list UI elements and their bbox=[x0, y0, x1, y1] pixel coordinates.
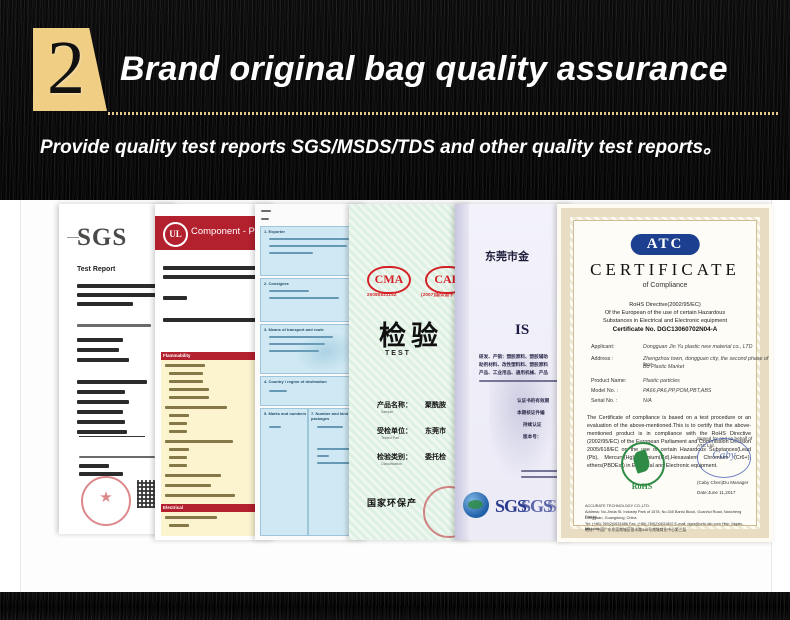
ul-row bbox=[169, 456, 187, 459]
ul-row bbox=[165, 364, 205, 367]
sgs-field-line bbox=[77, 380, 147, 384]
co-text-line bbox=[269, 390, 287, 392]
iso-left-band bbox=[455, 204, 469, 540]
co-text-line bbox=[269, 426, 281, 428]
atc-certificate-number: Certificate No. DGC13060702N04-A bbox=[557, 326, 773, 333]
ul-row bbox=[169, 388, 209, 391]
atc-field-value: Bo Plastic Market bbox=[643, 364, 684, 370]
atc-signer: (Caby Chen)Du Manager bbox=[697, 480, 748, 485]
co-box-marks bbox=[260, 408, 308, 536]
sgs-address-line bbox=[77, 284, 161, 288]
ul-row bbox=[169, 448, 189, 451]
ul-section-title-2: Electrical bbox=[163, 505, 183, 510]
atc-field-key: Product Name: bbox=[591, 378, 626, 384]
atc-directive-line: Of the European of the use of certain Ha… bbox=[557, 310, 773, 316]
atc-field-value: Plastic particles bbox=[643, 378, 680, 384]
sgs-field-line bbox=[77, 410, 123, 414]
iso-scope-line: 助剂材料、改性塑料料、塑胶原料 bbox=[479, 362, 548, 368]
sgs-signer-title bbox=[79, 472, 123, 476]
cma-field-label-en: Sample bbox=[381, 410, 393, 414]
atc-field-key: Address : bbox=[591, 356, 613, 362]
sgs-field-line bbox=[77, 390, 125, 394]
atc-blue-stamp bbox=[697, 438, 751, 478]
atc-field-key: Applicant: bbox=[591, 344, 614, 350]
co-text-line bbox=[269, 245, 347, 247]
co-box-label: 5. Marks and numbers bbox=[264, 411, 306, 416]
co-box-label: 3. Means of transport and route bbox=[264, 327, 324, 332]
background-texture-bottom bbox=[0, 592, 790, 620]
header-section: 2 Brand original bag quality assurance P… bbox=[0, 0, 790, 200]
atc-subheading: of Compliance bbox=[557, 282, 773, 289]
sgs-field-line bbox=[77, 400, 129, 404]
atc-company-footer: Dongguan, Guangdong, China bbox=[585, 516, 751, 521]
iso-right-line: 认证书的有效期 bbox=[517, 398, 549, 404]
page-subtitle: Provide quality test reports SGS/MSDS/TD… bbox=[40, 132, 760, 163]
cma-title-en: TEST bbox=[385, 350, 411, 357]
atc-company-footer: ACCURATE TECHNOLOGY CO.,LTD. bbox=[585, 504, 751, 509]
ul-applicant-line bbox=[163, 266, 263, 270]
sgs-field-line bbox=[77, 348, 119, 352]
sgs-red-seal bbox=[81, 476, 131, 526]
sgs-note-line bbox=[77, 324, 151, 327]
cal-seal-number: (2007)国认监字 bbox=[421, 292, 454, 298]
iso-heading: IS bbox=[515, 322, 529, 339]
ul-logo: UL bbox=[163, 222, 188, 247]
promo-banner: 2 Brand original bag quality assurance P… bbox=[0, 0, 790, 620]
atc-date: Date:June 11,2017 bbox=[697, 490, 735, 495]
iso-company-title: 东莞市金 bbox=[485, 248, 529, 264]
certificate-gallery: SGS Test Report bbox=[59, 204, 773, 542]
sgs-signature-rule bbox=[79, 436, 145, 437]
co-box-label: 1. Exporter bbox=[264, 229, 285, 234]
ul-row bbox=[165, 440, 233, 443]
globe-icon bbox=[463, 492, 489, 518]
cma-field-label: 受检单位： bbox=[377, 426, 412, 436]
co-text-line bbox=[269, 238, 349, 240]
co-text-line bbox=[269, 290, 309, 292]
sgs-field-line bbox=[77, 338, 123, 342]
cma-seal: CMA bbox=[367, 266, 411, 294]
co-header-line bbox=[261, 210, 271, 212]
ul-row bbox=[165, 484, 211, 487]
certificate-image-cma[interactable]: CMA 2008082115Z CAL (2007)国认监字 检验 TEST 产… bbox=[349, 204, 471, 540]
ul-row bbox=[169, 464, 187, 467]
cma-field-value: 委托检 bbox=[425, 452, 446, 462]
ul-section-title: Flammability bbox=[163, 353, 191, 358]
ul-row bbox=[165, 516, 217, 519]
sgs-field-line bbox=[77, 358, 129, 362]
sgs-address-line bbox=[77, 293, 163, 297]
atc-company-footer: 地址：中国广东东莞南城区银丰路345号南城商业中心第三层 bbox=[585, 528, 751, 533]
sgs-field-line bbox=[77, 430, 127, 434]
iso-scope-line: 研发、产销：塑胶原料、塑胶辅助 bbox=[479, 354, 548, 360]
atc-field-value: N/A bbox=[643, 398, 652, 404]
sgs-field-line bbox=[77, 420, 125, 424]
co-text-line bbox=[269, 297, 339, 299]
atc-field-value: PA66,PA6,PP,POM,PBT,ABS bbox=[643, 388, 711, 394]
certificate-image-iso[interactable]: 东莞市金 IS 研发、产销：塑胶原料、塑胶辅助 助剂材料、改性塑料料、塑胶原料 … bbox=[455, 204, 573, 540]
iso-right-line: 版本号： bbox=[523, 434, 541, 440]
ul-row bbox=[169, 524, 189, 527]
iso-scope-line: 产品、工业用品、通用机械、产品 bbox=[479, 370, 548, 376]
ul-row bbox=[169, 430, 187, 433]
atc-directive-line: Substances in Electrical and Electronic … bbox=[557, 318, 773, 324]
ul-row bbox=[169, 372, 203, 375]
ul-result-line bbox=[163, 296, 187, 300]
cma-seal-number: 2008082115Z bbox=[367, 292, 397, 297]
atc-field-value: Dongguan Jin Yu plastic new material co.… bbox=[643, 344, 752, 350]
ul-row bbox=[169, 414, 189, 417]
co-text-line bbox=[317, 426, 343, 428]
co-text-line bbox=[269, 252, 313, 254]
co-box-label: 2. Consignee bbox=[264, 281, 289, 286]
ul-row bbox=[165, 494, 235, 497]
iso-footer-line bbox=[521, 476, 561, 478]
atc-logo: ATC bbox=[631, 234, 700, 255]
iso-right-line: 持续认证 bbox=[523, 422, 541, 428]
cma-bottom-seal-text: 国家环保产 bbox=[367, 496, 417, 509]
atc-field-key: Model No. : bbox=[591, 388, 618, 394]
cma-field-label: 检验类别： bbox=[377, 452, 412, 462]
section-number-label: 2 bbox=[33, 24, 99, 112]
ul-row bbox=[169, 422, 187, 425]
certificates-panel-inner: SGS Test Report bbox=[20, 200, 772, 592]
cma-title-cn: 检验 bbox=[379, 314, 443, 353]
ul-row bbox=[169, 396, 209, 399]
certificates-panel: SGS Test Report bbox=[0, 200, 790, 592]
co-header-line bbox=[261, 218, 269, 220]
ul-row bbox=[165, 474, 221, 477]
atc-field-key: Serial No. : bbox=[591, 398, 617, 404]
ul-row bbox=[169, 380, 203, 383]
atc-directive-line: RoHS Directive(2002/95/EC) bbox=[557, 302, 773, 308]
atc-heading: CERTIFICATE bbox=[557, 260, 773, 280]
sgs-signer-name bbox=[79, 464, 109, 468]
rohs-label: RoHS bbox=[617, 482, 667, 491]
co-box-label: 4. Country / region of destination bbox=[264, 379, 327, 384]
cma-field-value: 聚酰胺 bbox=[425, 400, 446, 410]
ul-applicant-line bbox=[163, 275, 267, 279]
cma-field-label-en: Tested Part bbox=[381, 436, 399, 440]
co-text-line bbox=[317, 455, 329, 457]
iso-scope-line bbox=[479, 380, 567, 382]
sgs-signature-line bbox=[79, 456, 155, 458]
ul-band-title: Component - P bbox=[191, 226, 255, 237]
cma-field-label: 产品名称： bbox=[377, 400, 412, 410]
sgs-logo: SGS bbox=[77, 224, 127, 252]
dotted-divider bbox=[108, 112, 780, 115]
sgs-heading: Test Report bbox=[77, 266, 115, 273]
page-title: Brand original bag quality assurance bbox=[120, 50, 780, 89]
certificate-image-atc[interactable]: ATC CERTIFICATE of Compliance RoHS Direc… bbox=[557, 204, 773, 542]
ul-row bbox=[165, 406, 227, 409]
rohs-leaf-icon bbox=[621, 442, 665, 486]
cma-field-value: 东莞市 bbox=[425, 426, 446, 436]
sgs-address-line bbox=[77, 302, 133, 306]
cma-field-label-en: Classification bbox=[381, 462, 402, 466]
iso-right-line: 本期核证件编 bbox=[517, 410, 545, 416]
